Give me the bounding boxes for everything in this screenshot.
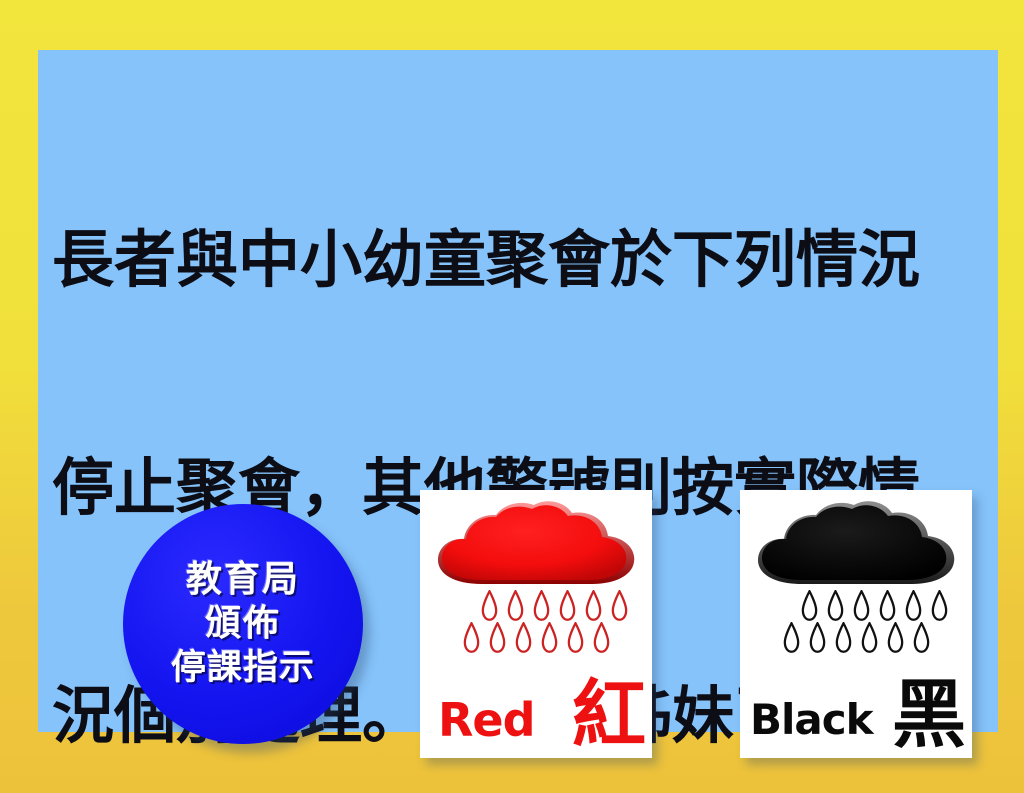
raindrop-icon: [584, 590, 603, 621]
red-label-en: Red: [438, 694, 535, 746]
black-label-en: Black: [750, 694, 873, 746]
raindrop-icon: [540, 622, 559, 653]
raindrop-icon: [912, 622, 931, 653]
raindrop-icon: [462, 622, 481, 653]
raindrops-group: [420, 590, 652, 660]
stamp-line-2: 頒佈: [205, 604, 281, 644]
red-card-labels: Red 紅: [420, 678, 652, 752]
headline-line-1: 長者與中小幼童聚會於下列情況: [52, 222, 987, 298]
black-label-zh: 黑: [892, 676, 966, 754]
raindrop-row-bottom: [420, 622, 652, 655]
content-panel: 長者與中小幼童聚會於下列情況 停止聚會，其他警號則按實際情 況個別處理。若弟兄姊…: [38, 50, 998, 732]
raindrop-icon: [852, 590, 871, 621]
raindrop-icon: [566, 622, 585, 653]
stamp-line-3: 停課指示: [171, 648, 315, 688]
raindrop-row-top: [420, 590, 652, 623]
raindrop-icon: [558, 590, 577, 621]
raindrop-icon: [480, 590, 499, 621]
raindrops-group: [740, 590, 972, 660]
rain-cloud-icon: [740, 496, 972, 592]
raindrop-icon: [610, 590, 629, 621]
raindrop-icon: [886, 622, 905, 653]
raindrop-icon: [514, 622, 533, 653]
raindrop-icon: [826, 590, 845, 621]
raindrop-icon: [904, 590, 923, 621]
black-rainstorm-signal-card: Black 黑: [740, 490, 972, 758]
red-label-zh: 紅: [572, 676, 646, 754]
raindrop-icon: [782, 622, 801, 653]
stamp-line-1: 教育局: [186, 560, 300, 600]
raindrop-icon: [800, 590, 819, 621]
raindrop-icon: [506, 590, 525, 621]
raindrop-row-top: [740, 590, 972, 623]
raindrop-icon: [834, 622, 853, 653]
raindrop-icon: [592, 622, 611, 653]
raindrop-icon: [488, 622, 507, 653]
black-card-labels: Black 黑: [740, 678, 972, 752]
rain-cloud-icon: [420, 496, 652, 592]
red-rainstorm-signal-card: Red 紅: [420, 490, 652, 758]
raindrop-icon: [930, 590, 949, 621]
raindrop-icon: [878, 590, 897, 621]
raindrop-icon: [808, 622, 827, 653]
raindrop-icon: [860, 622, 879, 653]
raindrop-icon: [532, 590, 551, 621]
education-bureau-stamp: 教育局 頒佈 停課指示: [123, 504, 363, 744]
raindrop-row-bottom: [740, 622, 972, 655]
slide-canvas: 長者與中小幼童聚會於下列情況 停止聚會，其他警號則按實際情 況個別處理。若弟兄姊…: [0, 0, 1024, 793]
